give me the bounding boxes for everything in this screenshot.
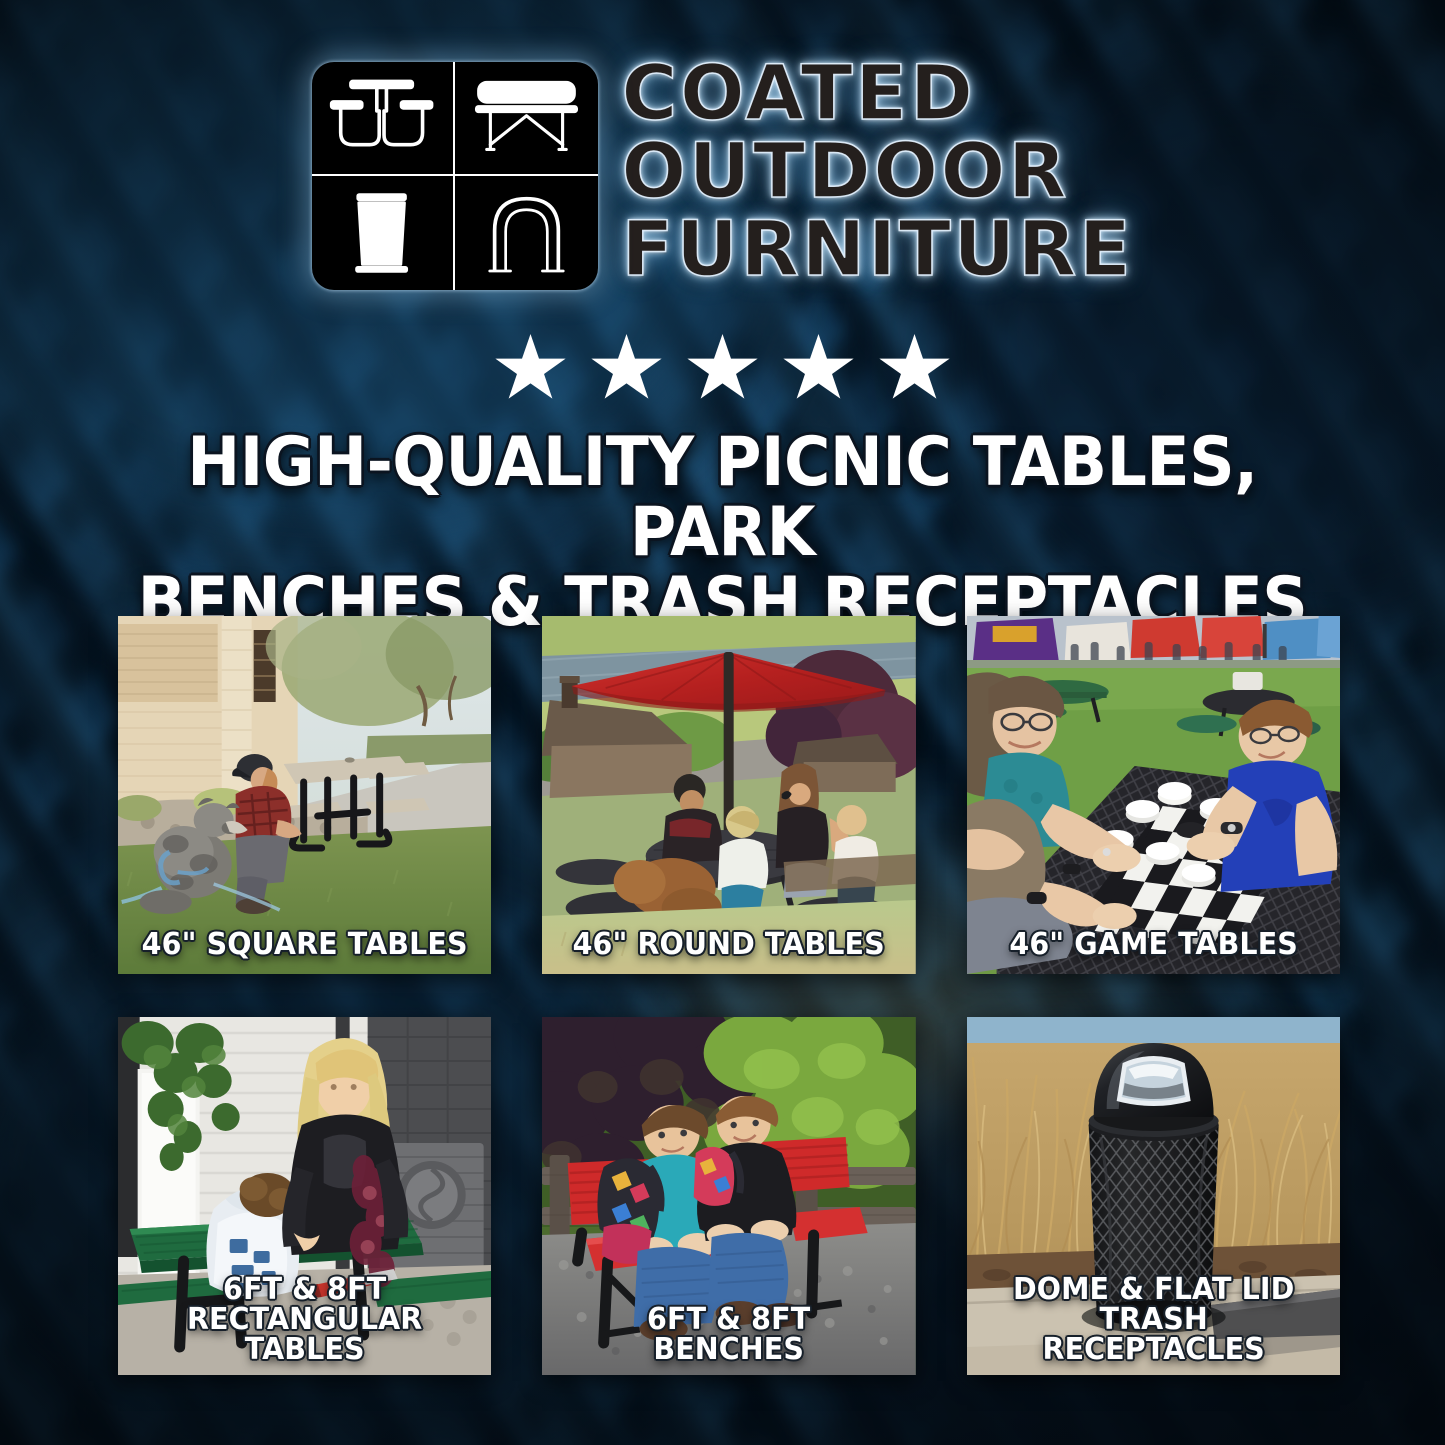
brand-name-line-3: FURNITURE [622, 214, 1134, 284]
product-caption-line-2: BENCHES [559, 1335, 898, 1365]
product-caption-line-1: 46" SQUARE TABLES [135, 930, 474, 960]
star-icon [879, 334, 951, 404]
headline-line-1: HIGH-QUALITY PICNIC TABLES, PARK [106, 428, 1338, 568]
product-photo [118, 616, 491, 974]
product-caption-line-1: 6FT & 8FT [559, 1305, 898, 1335]
product-caption-line-1: DOME & FLAT LID [984, 1275, 1323, 1305]
bench-icon [455, 62, 598, 176]
product-caption: 6FT & 8FT BENCHES [552, 1305, 907, 1365]
product-tile-trash-receptacles[interactable]: DOME & FLAT LID TRASH RECEPTACLES [967, 1017, 1340, 1375]
product-caption-line-1: 46" ROUND TABLES [559, 930, 898, 960]
product-caption: 46" SQUARE TABLES [127, 930, 482, 960]
brand-name-line-2: OUTDOOR [622, 136, 1070, 206]
product-caption: 46" ROUND TABLES [552, 930, 907, 960]
star-icon [591, 334, 663, 404]
brand-name-line-1: COATED [622, 58, 976, 128]
logo-mark-quadrants [312, 62, 598, 290]
brand-logo: COATED OUTDOOR FURNITURE [0, 62, 1445, 290]
product-tile-benches[interactable]: 6FT & 8FT BENCHES [542, 1017, 915, 1375]
star-icon [495, 334, 567, 404]
brand-wordmark: COATED OUTDOOR FURNITURE [622, 58, 1134, 284]
product-tile-square-tables[interactable]: 46" SQUARE TABLES [118, 616, 491, 974]
trash-receptacle-icon [312, 176, 455, 290]
product-caption-line-2: RECTANGULAR TABLES [135, 1305, 474, 1365]
product-photo [967, 616, 1340, 974]
headline: HIGH-QUALITY PICNIC TABLES, PARK BENCHES… [51, 428, 1395, 638]
product-grid-row: 46" SQUARE TABLES [118, 616, 1340, 974]
picnic-table-icon [312, 62, 455, 176]
product-caption: 6FT & 8FT RECTANGULAR TABLES [127, 1275, 482, 1365]
product-grid-row: 6FT & 8FT RECTANGULAR TABLES [118, 1017, 1340, 1375]
product-caption-line-1: 6FT & 8FT [135, 1275, 474, 1305]
star-rating [0, 334, 1445, 404]
promotional-poster: COATED OUTDOOR FURNITURE HIGH-QUALITY PI… [0, 0, 1445, 1445]
product-caption: DOME & FLAT LID TRASH RECEPTACLES [976, 1275, 1331, 1365]
product-tile-rectangular-tables[interactable]: 6FT & 8FT RECTANGULAR TABLES [118, 1017, 491, 1375]
star-icon [783, 334, 855, 404]
product-tile-game-tables[interactable]: 46" GAME TABLES [967, 616, 1340, 974]
product-tile-round-tables[interactable]: 46" ROUND TABLES [542, 616, 915, 974]
star-icon [687, 334, 759, 404]
product-caption-line-1: 46" GAME TABLES [984, 930, 1323, 960]
bike-rack-icon [455, 176, 598, 290]
product-photo [542, 616, 915, 974]
product-caption-line-2: TRASH RECEPTACLES [984, 1305, 1323, 1365]
product-grid: 46" SQUARE TABLES [118, 616, 1340, 1375]
product-caption: 46" GAME TABLES [976, 930, 1331, 960]
